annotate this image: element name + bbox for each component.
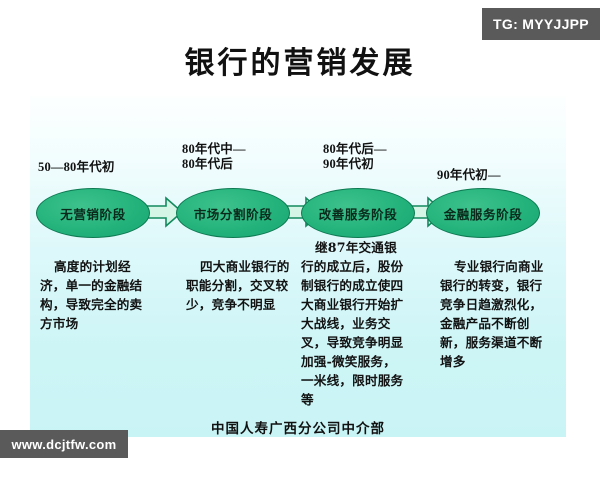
stage-node-2[interactable]: 市场分割阶段 — [176, 188, 290, 238]
slide-canvas: 银行的营销发展 50—80年代初 80年代中— 80年代后 80年代后— 90年… — [0, 0, 600, 480]
stage-node-2-label: 市场分割阶段 — [194, 204, 273, 223]
stage-node-4[interactable]: 金融服务阶段 — [426, 188, 540, 238]
stage-description-2: 四大商业银行的职能分割，交叉较少，竞争不明显 — [186, 257, 290, 314]
stage-date-3-line2: 90年代初 — [323, 157, 387, 172]
stage-date-3: 80年代后— 90年代初 — [323, 142, 387, 172]
stage-description-4: 专业银行向商业银行的转变，银行竞争日趋激烈化，金融产品不断创新，服务渠道不断增多 — [440, 257, 550, 371]
stage-node-3-label: 改善服务阶段 — [319, 204, 398, 223]
stage-date-4: 90年代初— — [437, 168, 501, 183]
page-title: 银行的营销发展 — [0, 38, 600, 82]
stage-date-2: 80年代中— 80年代后 — [182, 142, 246, 172]
watermark-url-badge: www.dcjtfw.com — [0, 430, 128, 458]
stage-node-4-label: 金融服务阶段 — [444, 204, 523, 223]
stage-date-1: 50—80年代初 — [38, 160, 115, 175]
stage-date-3-line1: 80年代后— — [323, 142, 387, 157]
stage-date-4-line1: 90年代初— — [437, 168, 501, 183]
stage-node-1-label: 无营销阶段 — [60, 204, 126, 223]
stage-node-3[interactable]: 改善服务阶段 — [301, 188, 415, 238]
stage-date-2-line2: 80年代后 — [182, 157, 246, 172]
stage-description-3: 继87年交通银行的成立后，股份制银行的成立使四大商业银行开始扩大战线，业务交叉，… — [301, 238, 405, 409]
watermark-tg-badge: TG: MYYJJPP — [482, 8, 600, 40]
stage-node-1[interactable]: 无营销阶段 — [36, 188, 150, 238]
stage-date-2-line1: 80年代中— — [182, 142, 246, 157]
stage-description-1: 高度的计划经济，单一的金融结构，导致完全的卖方市场 — [40, 257, 144, 333]
stage-date-1-line1: 50—80年代初 — [38, 160, 115, 175]
